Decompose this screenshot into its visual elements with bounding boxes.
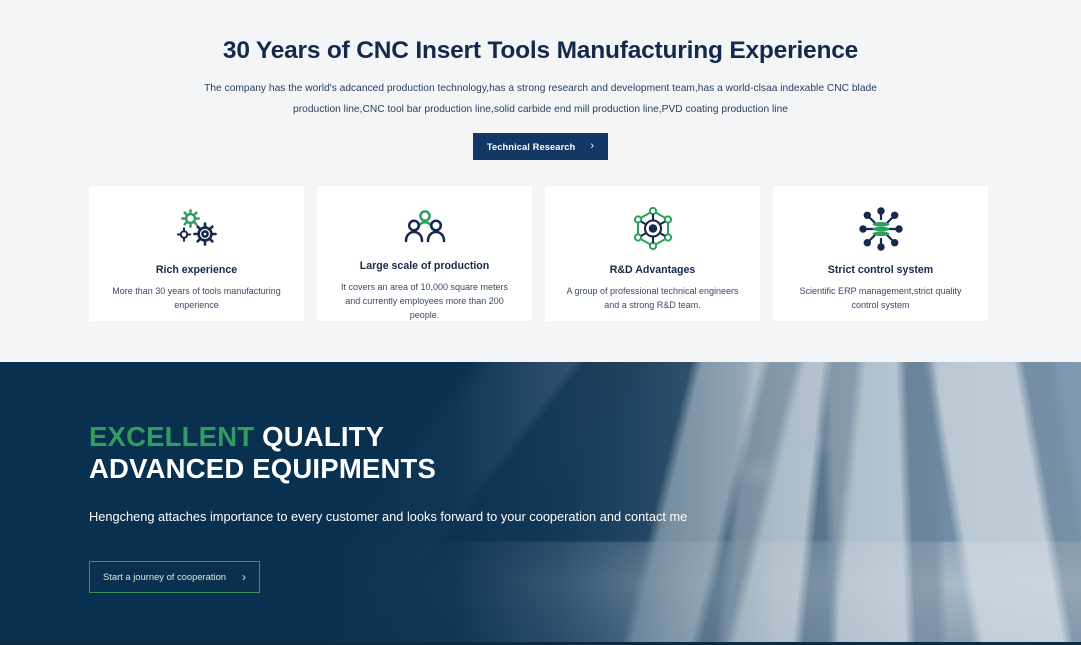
feature-card-title: Strict control system bbox=[828, 264, 933, 276]
hero-title: EXCELLENT QUALITY ADVANCED EQUIPMENTS bbox=[89, 421, 1081, 486]
feature-card-desc: It covers an area of 10,000 square meter… bbox=[317, 281, 532, 323]
start-cooperation-label: Start a journey of cooperation bbox=[103, 571, 226, 582]
hero-title-accent: EXCELLENT bbox=[89, 421, 254, 452]
feature-card[interactable]: Large scale of production It covers an a… bbox=[317, 186, 532, 321]
technical-research-label: Technical Research bbox=[487, 142, 575, 152]
intro-cta-wrap: Technical Research › bbox=[0, 133, 1081, 160]
hero-content: EXCELLENT QUALITY ADVANCED EQUIPMENTS He… bbox=[0, 362, 1081, 593]
intro-subtitle: The company has the world's adcanced pro… bbox=[181, 79, 901, 120]
feature-card-title: R&D Advantages bbox=[610, 264, 696, 276]
feature-card[interactable]: Strict control system Scientific ERP man… bbox=[773, 186, 988, 321]
hero-title-line2: ADVANCED EQUIPMENTS bbox=[89, 453, 436, 484]
radial-control-icon bbox=[857, 207, 905, 251]
feature-card[interactable]: R&D Advantages A group of professional t… bbox=[545, 186, 760, 321]
page-title: 30 Years of CNC Insert Tools Manufacturi… bbox=[0, 36, 1081, 65]
feature-card[interactable]: Rich experience More than 30 years of to… bbox=[89, 186, 304, 321]
start-cooperation-button[interactable]: Start a journey of cooperation › bbox=[89, 561, 260, 593]
gears-icon bbox=[172, 207, 222, 251]
feature-card-title: Large scale of production bbox=[360, 260, 490, 272]
people-group-icon bbox=[401, 207, 449, 247]
hero-title-rest: QUALITY bbox=[254, 421, 384, 452]
intro-section: 30 Years of CNC Insert Tools Manufacturi… bbox=[0, 0, 1081, 362]
molecule-network-icon bbox=[630, 207, 676, 251]
chevron-right-icon: › bbox=[242, 571, 246, 583]
feature-card-desc: A group of professional technical engine… bbox=[545, 285, 760, 313]
feature-card-title: Rich experience bbox=[156, 264, 237, 276]
feature-card-list: Rich experience More than 30 years of to… bbox=[0, 186, 1081, 321]
hero-section: EXCELLENT QUALITY ADVANCED EQUIPMENTS He… bbox=[0, 362, 1081, 645]
hero-paragraph: Hengcheng attaches importance to every c… bbox=[89, 507, 1081, 528]
technical-research-button[interactable]: Technical Research › bbox=[473, 133, 608, 160]
chevron-right-icon: › bbox=[590, 141, 594, 152]
feature-card-desc: More than 30 years of tools manufacturin… bbox=[89, 285, 304, 313]
landing-page: 30 Years of CNC Insert Tools Manufacturi… bbox=[0, 0, 1081, 645]
feature-card-desc: Scientific ERP management,strict quality… bbox=[773, 285, 988, 313]
